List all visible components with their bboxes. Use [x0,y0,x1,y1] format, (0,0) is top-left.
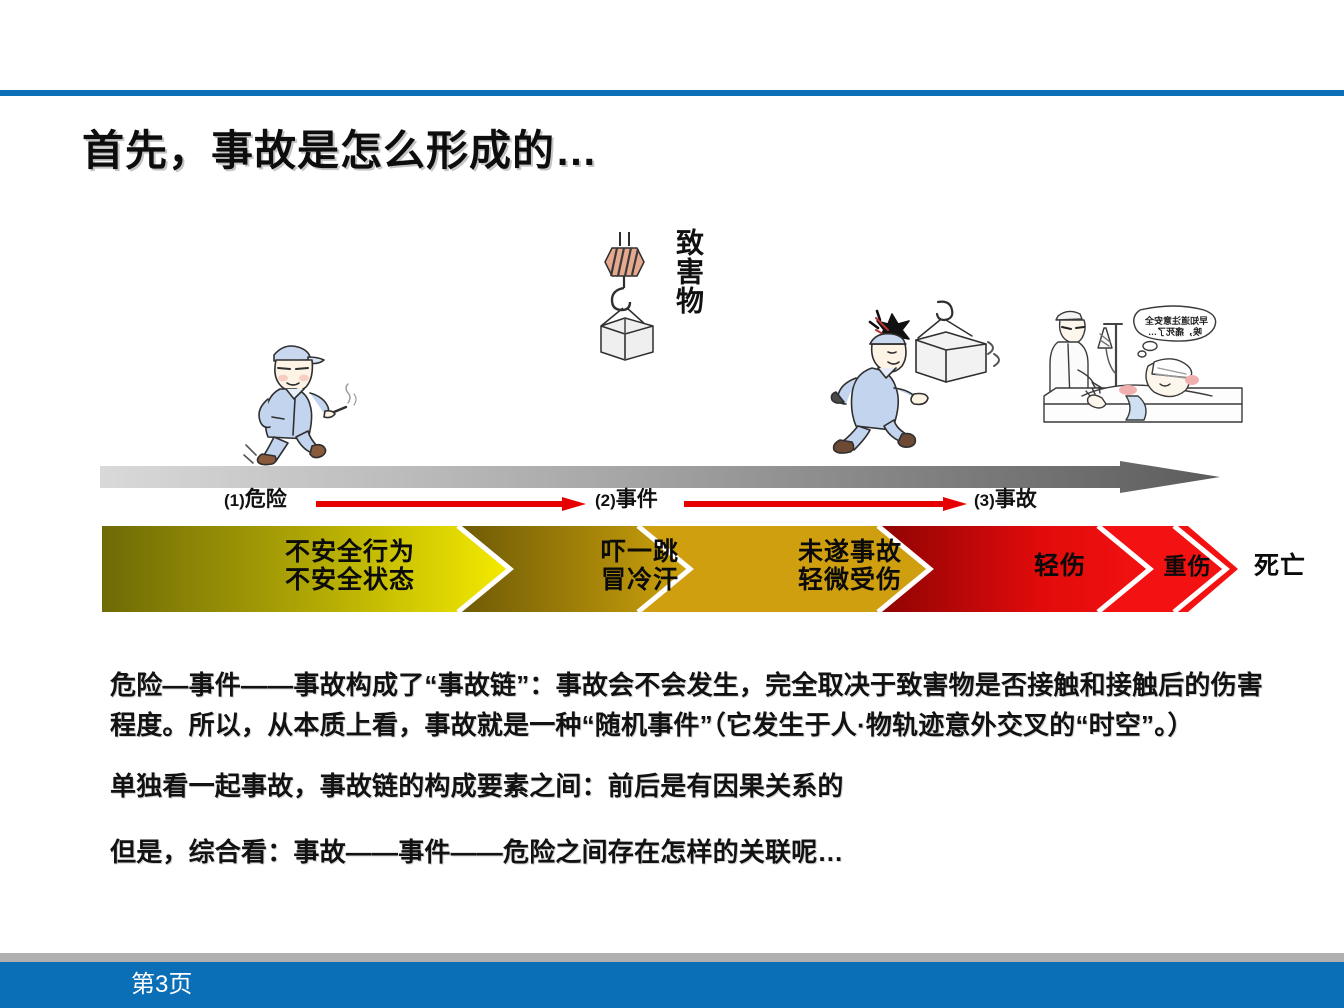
chevron-text-2: 吓一跳 冒冷汗 [555,538,725,594]
chevron-text-4: 轻伤 [990,552,1130,580]
header-rule [0,90,1344,96]
stage-number-3: (3) [974,491,995,510]
body-text-block: 危险—事件——事故构成了“事故链”：事故会不会发生，完全取决于致害物是否接触和接… [110,666,1280,878]
hoisted-load-label: 致害物 [668,228,702,315]
stage-number-2: (2) [595,491,616,510]
stage-text-3: 事故 [995,488,1037,511]
stage-label-row: (1)危险 (2)事件 (3)事故 [100,486,1230,516]
stage-text-2: 事件 [616,488,658,511]
red-arrow-connector-1 [316,497,586,511]
hospital-scene-illustration: 早知道注意安全 唉，痛死了… [1042,300,1242,430]
bubble-line-2: 唉，痛死了… [1148,326,1202,337]
chevron-text-5: 重伤 [1135,554,1240,580]
chevron-text-6: 死亡 [1230,552,1330,580]
walking-worker-smoking-illustration [240,333,370,468]
body-paragraph-2: 单独看一起事故，事故链的构成要素之间：前后是有因果关系的 [110,767,1280,807]
stage-text-1: 危险 [245,488,287,511]
slide-canvas: 首先，事故是怎么形成的… [0,0,1344,1008]
chevron-text-3: 未遂事故 轻微受伤 [740,538,960,594]
footer-divider [0,953,1344,962]
stage-label-2: (2)事件 [595,486,658,515]
chevron-text-1: 不安全行为 不安全状态 [230,538,470,594]
footer-bar [0,962,1344,1008]
page-number-label: 第3页 [131,968,192,1002]
bubble-line-1: 早知道注意安全 [1144,315,1208,326]
stage-label-3: (3)事故 [974,486,1037,515]
page-title: 首先，事故是怎么形成的… [82,117,598,178]
stage-number-1: (1) [224,491,245,510]
hoisted-load-illustration [596,232,658,360]
stage-label-1: (1)危险 [224,486,287,515]
red-arrow-connector-2 [684,497,967,511]
body-paragraph-1: 危险—事件——事故构成了“事故链”：事故会不会发生，完全取决于致害物是否接触和接… [110,666,1280,745]
severity-chevron-band: 不安全行为 不安全状态 吓一跳 冒冷汗 未遂事故 轻微受伤 轻伤 重伤 死亡 [100,524,1240,614]
worker-struck-illustration [828,300,1003,460]
body-paragraph-3: 但是，综合看：事故——事件——危险之间存在怎样的关联呢… [110,833,1280,873]
